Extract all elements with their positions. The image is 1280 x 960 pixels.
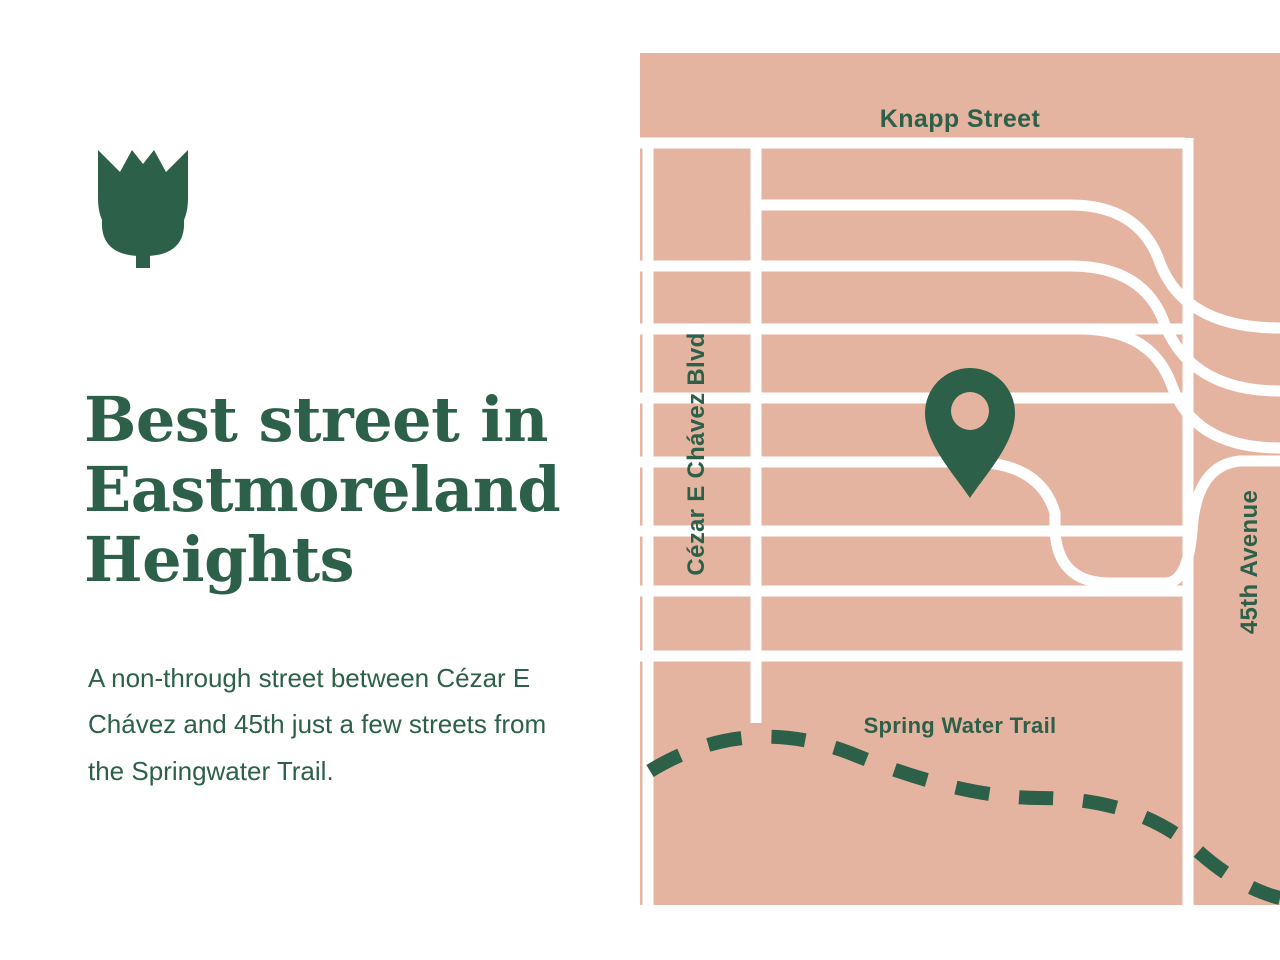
page-title: Best street in Eastmoreland Heights <box>84 385 614 595</box>
map-roads-graphic <box>640 53 1280 905</box>
page-description: A non-through street between Cézar E Chá… <box>88 655 578 794</box>
street-label-knapp: Knapp Street <box>640 105 1280 134</box>
left-content-panel: Best street in Eastmoreland Heights A no… <box>0 0 640 960</box>
tulip-icon <box>88 140 198 270</box>
neighborhood-map[interactable]: Knapp Street Cézar E Chávez Blvd 45th Av… <box>640 53 1280 905</box>
street-label-cezar-chavez: Cézar E Chávez Blvd <box>683 304 711 604</box>
street-label-45th-avenue: 45th Avenue <box>1236 422 1264 702</box>
map-pin-icon[interactable] <box>925 368 1015 498</box>
trail-label-spring-water: Spring Water Trail <box>790 713 1130 739</box>
